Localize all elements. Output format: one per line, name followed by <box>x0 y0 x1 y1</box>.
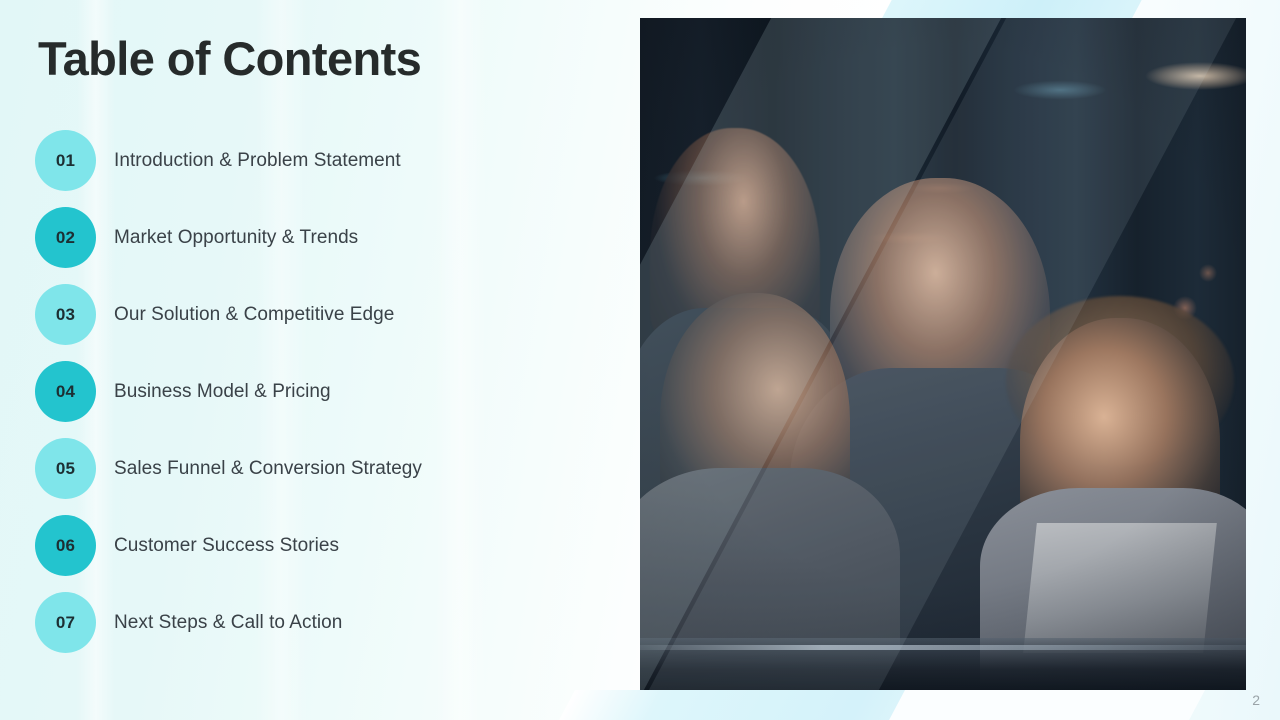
toc-number-badge: 03 <box>35 284 96 345</box>
toc-number-badge: 01 <box>35 130 96 191</box>
team-photo <box>640 18 1246 690</box>
toc-list: 01 Introduction & Problem Statement 02 M… <box>35 130 595 653</box>
toc-item-label: Business Model & Pricing <box>114 381 331 403</box>
toc-item-01[interactable]: 01 Introduction & Problem Statement <box>35 130 595 191</box>
toc-number-badge: 04 <box>35 361 96 422</box>
toc-item-label: Next Steps & Call to Action <box>114 612 342 634</box>
toc-number-badge: 05 <box>35 438 96 499</box>
toc-number-badge: 02 <box>35 207 96 268</box>
toc-item-label: Market Opportunity & Trends <box>114 227 358 249</box>
decorative-band-bottom-light <box>887 690 1205 720</box>
toc-item-04[interactable]: 04 Business Model & Pricing <box>35 361 595 422</box>
toc-item-02[interactable]: 02 Market Opportunity & Trends <box>35 207 595 268</box>
toc-number-badge: 06 <box>35 515 96 576</box>
toc-item-07[interactable]: 07 Next Steps & Call to Action <box>35 592 595 653</box>
toc-item-label: Sales Funnel & Conversion Strategy <box>114 458 422 480</box>
toc-item-label: Our Solution & Competitive Edge <box>114 304 394 326</box>
toc-number-badge: 07 <box>35 592 96 653</box>
decorative-band-bottom <box>557 690 1135 720</box>
page-title: Table of Contents <box>38 31 421 86</box>
toc-item-label: Customer Success Stories <box>114 535 339 557</box>
toc-item-05[interactable]: 05 Sales Funnel & Conversion Strategy <box>35 438 595 499</box>
toc-item-03[interactable]: 03 Our Solution & Competitive Edge <box>35 284 595 345</box>
photo-vignette <box>640 18 1246 690</box>
slide-table-of-contents: Table of Contents 01 Introduction & Prob… <box>0 0 1280 720</box>
page-number: 2 <box>1252 692 1260 708</box>
toc-item-label: Introduction & Problem Statement <box>114 150 401 172</box>
toc-item-06[interactable]: 06 Customer Success Stories <box>35 515 595 576</box>
